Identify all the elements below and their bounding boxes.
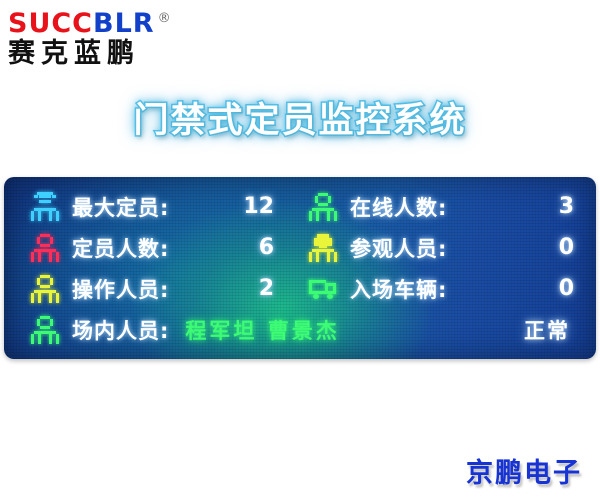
onsite-personnel-names: 程军坦 曹景杰 (185, 315, 339, 345)
page-title: 门禁式定员监控系统 (0, 92, 600, 143)
stat-label: 场内人员: (72, 315, 169, 345)
led-display-content: 最大定员: 12 在线人数: 3 定员人数: 6 (4, 185, 596, 351)
led-row: 操作人员: 2 入场车辆: 0 (4, 268, 596, 309)
person-icon (308, 192, 338, 222)
stat-value: 6 (259, 235, 274, 260)
status-badge: 正常 (524, 315, 570, 345)
person-icon (30, 233, 60, 263)
logo-text-succ: SUCC (8, 8, 93, 39)
led-row: 定员人数: 6 参观人员: 0 (4, 227, 596, 268)
stat-label: 入场车辆: (350, 274, 447, 304)
logo-text-blr: BLR (93, 8, 155, 39)
stat-registered-personnel: 定员人数: 6 (4, 227, 300, 268)
company-logo: SUCCBLR® 赛克蓝鹏 (8, 4, 238, 70)
stat-value: 3 (559, 194, 574, 219)
logo-chinese-wordmark: 赛克蓝鹏 (8, 38, 238, 70)
stat-vehicles-entered: 入场车辆: 0 (300, 268, 596, 309)
person-with-hat-icon (30, 192, 60, 222)
stat-value: 12 (243, 194, 274, 219)
stat-value: 0 (559, 235, 574, 260)
led-row: 场内人员: 程军坦 曹景杰 正常 (4, 309, 596, 350)
stat-label: 参观人员: (350, 233, 447, 263)
led-display-panel: 最大定员: 12 在线人数: 3 定员人数: 6 (4, 177, 596, 359)
stat-visitors: 参观人员: 0 (300, 227, 596, 268)
stat-label: 最大定员: (72, 192, 169, 222)
registered-trademark-icon: ® (158, 11, 172, 26)
footer-brand: 京鹏电子 (466, 451, 582, 490)
person-icon (30, 274, 60, 304)
logo-latin-wordmark: SUCCBLR® (8, 4, 238, 39)
stat-max-capacity: 最大定员: 12 (4, 186, 300, 227)
stat-value: 0 (559, 276, 574, 301)
stat-operators: 操作人员: 2 (4, 268, 300, 309)
truck-icon (308, 274, 338, 304)
stat-value: 2 (259, 276, 274, 301)
stat-online-count: 在线人数: 3 (300, 186, 596, 227)
stat-label: 在线人数: (350, 192, 447, 222)
stat-onsite-personnel: 场内人员: 程军坦 曹景杰 正常 (4, 309, 596, 350)
person-visitor-icon (308, 233, 338, 263)
person-icon (30, 315, 60, 345)
stat-label: 操作人员: (72, 274, 169, 304)
stat-label: 定员人数: (72, 233, 169, 263)
led-row: 最大定员: 12 在线人数: 3 (4, 186, 596, 227)
